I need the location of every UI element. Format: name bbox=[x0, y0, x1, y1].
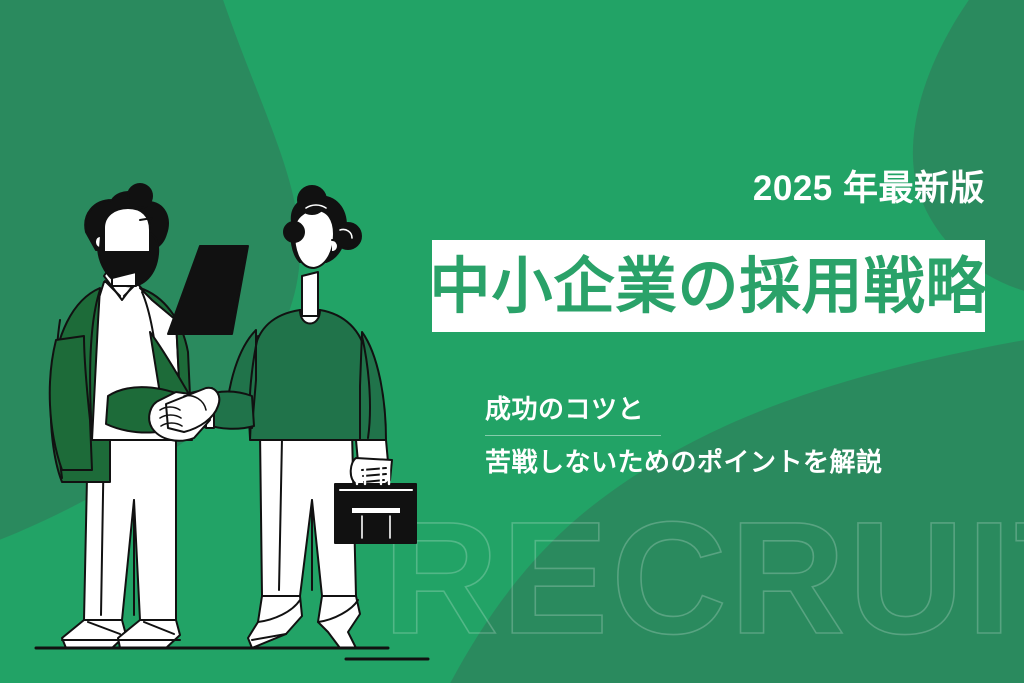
text-layer: 2025 年最新版 中小企業の採用戦略 成功のコツと 苦戦しないためのポイントを… bbox=[0, 0, 1024, 683]
subtitle-block: 成功のコツと 苦戦しないためのポイントを解説 bbox=[485, 393, 985, 478]
hero-banner: RECRUIT bbox=[0, 0, 1024, 683]
subtitle-line-1: 成功のコツと bbox=[485, 393, 985, 426]
page-title: 中小企業の採用戦略 bbox=[430, 256, 988, 317]
eyebrow-label: 2025 年最新版 bbox=[753, 171, 985, 206]
subtitle-line-2: 苦戦しないためのポイントを解説 bbox=[485, 446, 985, 479]
subtitle-divider bbox=[485, 435, 661, 436]
title-box: 中小企業の採用戦略 bbox=[432, 240, 985, 332]
